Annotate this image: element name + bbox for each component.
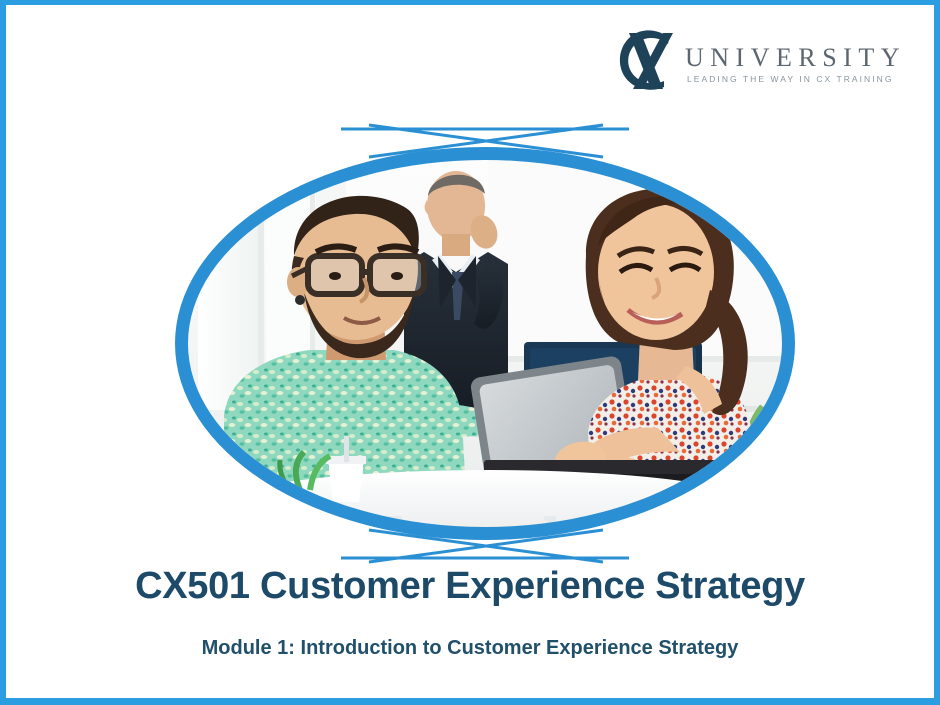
slide-border-bottom bbox=[0, 698, 940, 705]
title-slide: UNIVERSITY LEADING THE WAY IN CX TRAININ… bbox=[0, 0, 940, 705]
hero-image-medallion bbox=[175, 147, 795, 540]
title-block: CX501 Customer Experience Strategy Modul… bbox=[6, 563, 934, 661]
page-title: CX501 Customer Experience Strategy bbox=[6, 563, 934, 609]
logo-tagline: LEADING THE WAY IN CX TRAINING bbox=[687, 73, 894, 85]
logo-wordmark: UNIVERSITY bbox=[685, 45, 906, 71]
page-subtitle: Module 1: Introduction to Customer Exper… bbox=[6, 635, 934, 661]
slide-canvas: UNIVERSITY LEADING THE WAY IN CX TRAININ… bbox=[6, 5, 934, 698]
logo-text-block: UNIVERSITY LEADING THE WAY IN CX TRAININ… bbox=[685, 25, 906, 85]
cx-university-logo: UNIVERSITY LEADING THE WAY IN CX TRAININ… bbox=[611, 25, 906, 97]
decorative-cross-top bbox=[335, 117, 635, 165]
cx-monogram-icon bbox=[611, 25, 683, 97]
hero-photo bbox=[188, 160, 782, 527]
slide-border-right bbox=[934, 0, 940, 705]
